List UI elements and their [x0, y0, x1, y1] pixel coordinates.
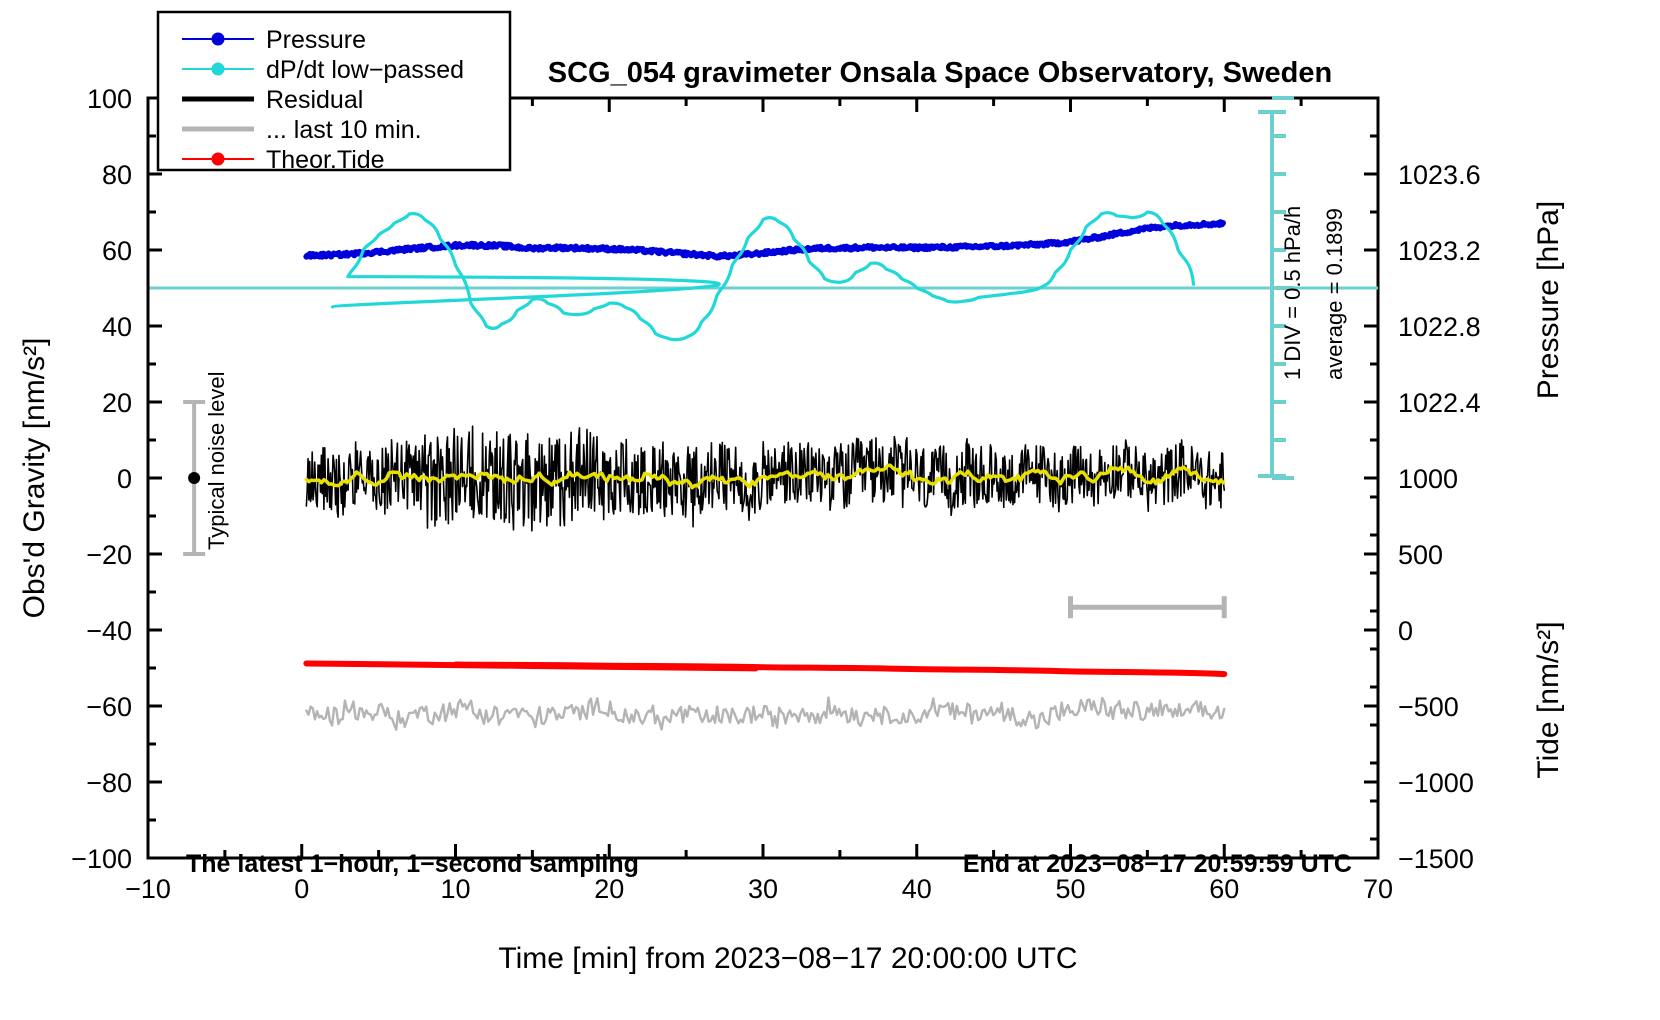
y-tick-label: 0 [117, 464, 132, 494]
x-tick-label: 10 [440, 874, 470, 904]
x-tick-label: 0 [294, 874, 309, 904]
dpdt-scale-label-average: average = 0.1899 [1322, 208, 1347, 380]
legend-label-1: Pressure [266, 26, 366, 54]
y-axis-label-pressure: Pressure [hPa] [1532, 201, 1565, 399]
tide-tick-label: −500 [1398, 692, 1459, 722]
y-tick-label: −100 [71, 844, 132, 874]
y-tick-label: −80 [86, 768, 132, 798]
legend-label-5: Theor.Tide [266, 146, 385, 174]
y-axis-label-tide: Tide [nm/s²] [1532, 621, 1565, 778]
y-tick-label: 100 [87, 84, 132, 114]
tide-tick-label: −1000 [1398, 768, 1474, 798]
legend-label-2: dP/dt low−passed [266, 56, 464, 84]
tide-tick-label: 500 [1398, 540, 1443, 570]
theoretical-tide-trace [306, 663, 1224, 674]
y-tick-label: 80 [102, 160, 132, 190]
last10min-trace [306, 698, 1224, 730]
pressure-tick-label: 1022.4 [1398, 388, 1481, 418]
x-tick-label: 20 [594, 874, 624, 904]
y-tick-label: 40 [102, 312, 132, 342]
y-tick-label: 60 [102, 236, 132, 266]
legend-marker-1 [212, 33, 225, 46]
x-tick-label: 40 [902, 874, 932, 904]
legend-marker-2 [212, 63, 225, 76]
tide-tick-label: −1500 [1398, 844, 1474, 874]
x-tick-label: 70 [1363, 874, 1393, 904]
footer-left: The latest 1−hour, 1−second sampling [186, 850, 639, 878]
dpdt-scale-label-div: 1 DIV = 0.5 hPa/h [1280, 206, 1305, 380]
y-tick-label: −40 [86, 616, 132, 646]
y-tick-label: −20 [86, 540, 132, 570]
x-tick-label: 30 [748, 874, 778, 904]
y-tick-label: −60 [86, 692, 132, 722]
legend-marker-5 [212, 153, 225, 166]
legend-label-4: ... last 10 min. [266, 116, 422, 144]
pressure-tick-label: 1023.6 [1398, 160, 1481, 190]
pressure-tick-label: 1023.2 [1398, 236, 1481, 266]
gravimeter-plot: −10010203040506070−100−80−60−40−20020406… [0, 0, 1660, 1020]
x-tick-label: 50 [1055, 874, 1085, 904]
footer-right: End at 2023−08−17 20:59:59 UTC [963, 850, 1352, 878]
y-axis-label-left: Obs'd Gravity [nm/s²] [18, 338, 51, 619]
x-tick-label: 60 [1209, 874, 1239, 904]
pressure-tick-label: 1022.8 [1398, 312, 1481, 342]
x-tick-label: −10 [125, 874, 171, 904]
chart-page: −10010203040506070−100−80−60−40−20020406… [0, 0, 1660, 1020]
tide-tick-label: 1000 [1398, 464, 1458, 494]
legend-label-3: Residual [266, 86, 363, 114]
noise-center-dot [188, 472, 200, 484]
tide-tick-label: 0 [1398, 616, 1413, 646]
x-axis-label: Time [min] from 2023−08−17 20:00:00 UTC [498, 942, 1077, 975]
noise-level-label: Typical noise level [204, 371, 229, 550]
chart-title: SCG_054 gravimeter Onsala Space Observat… [548, 57, 1332, 89]
y-tick-label: 20 [102, 388, 132, 418]
dpdt-trace [333, 212, 1194, 340]
